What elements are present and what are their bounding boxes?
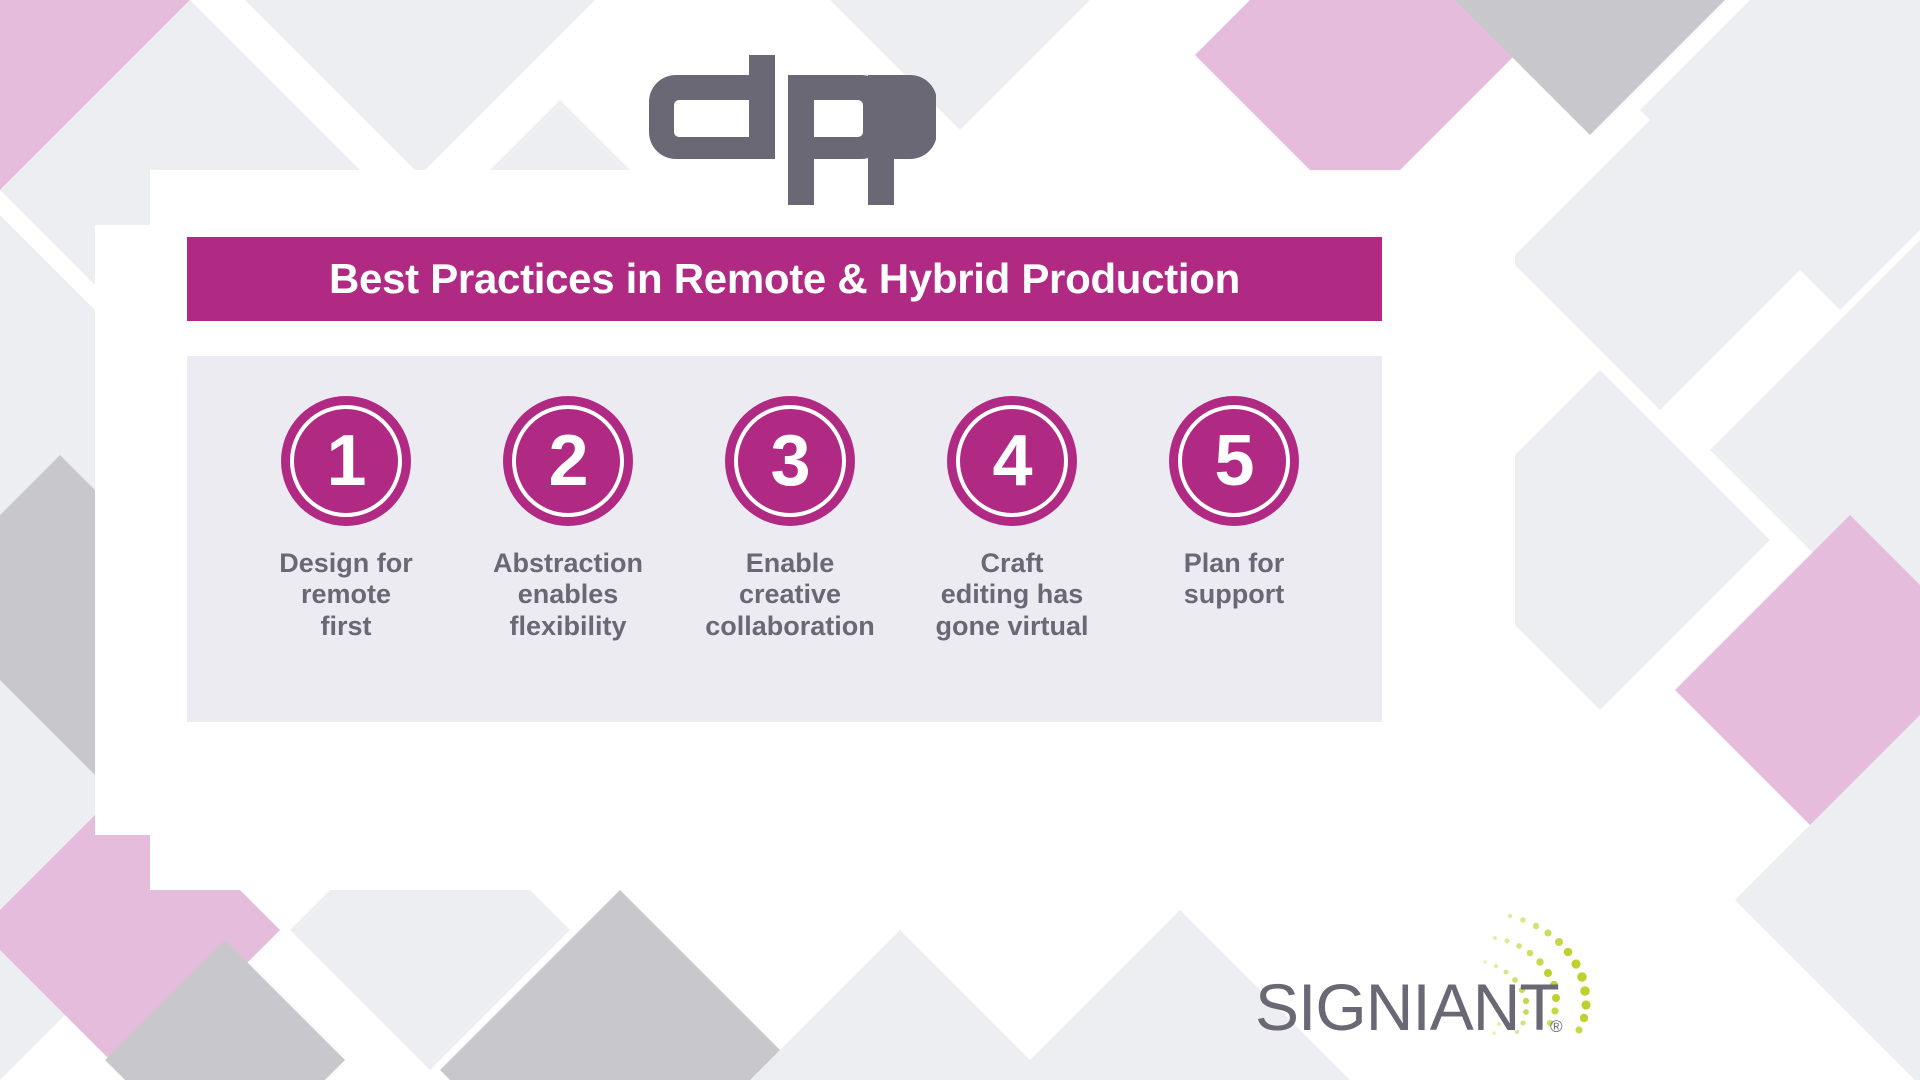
signiant-wordmark-icon: SIGNIANT xyxy=(1255,970,1559,1044)
step-label-3: Enable creative collaboration xyxy=(705,548,875,642)
step-item-3[interactable]: 3 Enable creative collaboration xyxy=(679,396,901,642)
step-label-5: Plan for support xyxy=(1184,548,1285,611)
step-badge-3: 3 xyxy=(725,396,855,526)
dpp-wordmark-icon xyxy=(636,55,936,205)
step-item-5[interactable]: 5 Plan for support xyxy=(1123,396,1345,611)
title-banner: Best Practices in Remote & Hybrid Produc… xyxy=(187,237,1382,321)
steps-panel: 1 Design for remote first 2 Abstraction … xyxy=(187,356,1382,722)
step-number-5: 5 xyxy=(1214,425,1253,497)
step-number-3: 3 xyxy=(770,425,809,497)
signiant-logo: SIGNIANT ® xyxy=(1210,900,1610,1065)
step-number-2: 2 xyxy=(548,425,587,497)
step-badge-5: 5 xyxy=(1169,396,1299,526)
registered-mark-icon: ® xyxy=(1550,1017,1563,1036)
step-number-4: 4 xyxy=(992,425,1031,497)
step-badge-4: 4 xyxy=(947,396,1077,526)
step-label-2: Abstraction enables flexibility xyxy=(493,548,643,642)
step-label-1: Design for remote first xyxy=(279,548,413,642)
slide-stage: Best Practices in Remote & Hybrid Produc… xyxy=(0,0,1920,1080)
step-label-4: Craft editing has gone virtual xyxy=(935,548,1088,642)
step-badge-2: 2 xyxy=(503,396,633,526)
step-number-1: 1 xyxy=(326,425,365,497)
step-item-4[interactable]: 4 Craft editing has gone virtual xyxy=(901,396,1123,642)
step-item-2[interactable]: 2 Abstraction enables flexibility xyxy=(457,396,679,642)
steps-row: 1 Design for remote first 2 Abstraction … xyxy=(235,396,1345,642)
step-badge-1: 1 xyxy=(281,396,411,526)
page-title: Best Practices in Remote & Hybrid Produc… xyxy=(329,258,1240,300)
step-item-1[interactable]: 1 Design for remote first xyxy=(235,396,457,642)
